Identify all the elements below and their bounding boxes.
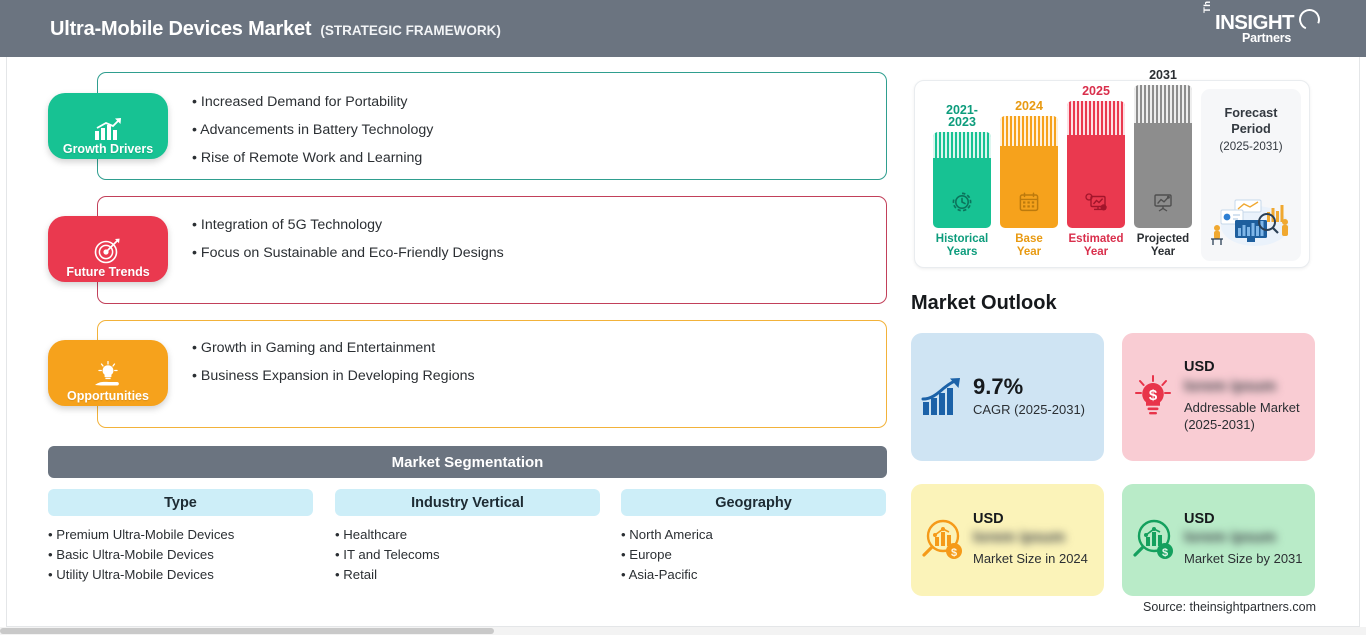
badge-label: Growth Drivers	[63, 143, 153, 156]
forecast-timeline-panel: 2021-2023 HistoricalYears 2	[914, 80, 1310, 268]
card-caption: Market Size by 2031	[1184, 551, 1307, 568]
badge-growth-drivers[interactable]: Growth Drivers	[48, 93, 168, 159]
badge-opportunities[interactable]: Opportunities	[48, 340, 168, 406]
magnifier-bar-chart-dollar-icon: $	[1122, 518, 1184, 562]
list-item: Utility Ultra-Mobile Devices	[48, 565, 313, 585]
logo-arc-icon	[1296, 6, 1323, 33]
currency-label: USD	[973, 512, 1096, 527]
analytics-gear-icon	[1084, 191, 1108, 218]
timeline-year: 2024	[1000, 100, 1058, 113]
bullet-list-future-trends: Integration of 5G Technology Focus on Su…	[192, 218, 504, 274]
cagr-value: 9.7%	[973, 376, 1096, 398]
bar-chart-growth-icon	[911, 377, 973, 417]
outlook-card-body: 9.7% CAGR (2025-2031)	[973, 376, 1104, 419]
bullet-item: Rise of Remote Work and Learning	[192, 151, 433, 165]
list-item: Basic Ultra-Mobile Devices	[48, 545, 313, 565]
timeline-bar	[1000, 116, 1058, 228]
segmentation-column-industry-vertical: Industry Vertical Healthcare IT and Tele…	[335, 489, 600, 586]
currency-label: USD	[1184, 512, 1307, 527]
market-segmentation-title: Market Segmentation	[48, 446, 887, 478]
list-item: Healthcare	[335, 525, 600, 545]
forecast-period-label: ForecastPeriod	[1201, 105, 1301, 138]
timeline-year: 2021-2023	[933, 104, 991, 129]
segmentation-column-geography: Geography North America Europe Asia-Paci…	[621, 489, 886, 586]
target-dart-icon	[94, 234, 122, 264]
header-title-group: Ultra-Mobile Devices Market (STRATEGIC F…	[50, 18, 501, 41]
currency-label: USD	[1184, 360, 1307, 375]
outlook-card-market-size-2024: $ USD lorem ipsum Market Size in 2024	[911, 484, 1104, 596]
blurred-value: lorem ipsum	[973, 529, 1096, 547]
page-header: Ultra-Mobile Devices Market (STRATEGIC F…	[0, 0, 1366, 57]
bullet-list-growth-drivers: Increased Demand for Portability Advance…	[192, 95, 433, 180]
magnifier-bar-chart-dollar-icon: $	[911, 518, 973, 562]
segmentation-column-header: Geography	[621, 489, 886, 516]
timeline-item-historical: 2021-2023 HistoricalYears	[933, 104, 991, 259]
timeline-year: 2031	[1134, 69, 1192, 82]
forecast-period-box: ForecastPeriod (2025-2031)	[1201, 89, 1301, 261]
outlook-card-addressable-market: $ USD lorem ipsum Addressable Market (20…	[1122, 333, 1315, 461]
logo-the-text: The	[1202, 0, 1213, 13]
timeline-bars: 2021-2023 HistoricalYears 2	[933, 81, 1201, 269]
page-subtitle: (STRATEGIC FRAMEWORK)	[320, 23, 500, 38]
timeline-item-estimated: 2025 Estimated	[1067, 85, 1125, 259]
insight-partners-logo: The INSIGHT Partners	[1202, 9, 1318, 49]
blurred-value: lorem ipsum	[1184, 378, 1307, 396]
timeline-bar	[1134, 85, 1192, 228]
badge-future-trends[interactable]: Future Trends	[48, 216, 168, 282]
list-item: Europe	[621, 545, 886, 565]
lightbulb-dollar-icon: $	[1122, 374, 1184, 420]
market-outlook-title: Market Outlook	[911, 292, 1057, 315]
bullet-item: Integration of 5G Technology	[192, 218, 504, 232]
timeline-item-projected: 2031 ProjectedYear	[1134, 69, 1192, 259]
page-title: Ultra-Mobile Devices Market	[50, 18, 311, 41]
list-item: Asia-Pacific	[621, 565, 886, 585]
svg-text:$: $	[951, 547, 957, 559]
timeline-bar	[933, 132, 991, 228]
timeline-item-base: 2024	[1000, 100, 1058, 259]
outlook-card-cagr: 9.7% CAGR (2025-2031)	[911, 333, 1104, 461]
timeline-label: BaseYear	[1000, 233, 1058, 259]
infographic-page: Ultra-Mobile Devices Market (STRATEGIC F…	[0, 0, 1366, 635]
bullet-item: Increased Demand for Portability	[192, 95, 433, 109]
list-item: Retail	[335, 565, 600, 585]
segmentation-column-header: Type	[48, 489, 313, 516]
list-item: IT and Telecoms	[335, 545, 600, 565]
outlook-card-body: USD lorem ipsum Market Size by 2031	[1184, 512, 1315, 568]
badge-label: Future Trends	[66, 266, 149, 279]
svg-text:$: $	[1149, 387, 1158, 404]
segmentation-item-list: North America Europe Asia-Pacific	[621, 525, 886, 586]
segmentation-column-header: Industry Vertical	[335, 489, 600, 516]
cagr-caption: CAGR (2025-2031)	[973, 402, 1096, 419]
timeline-bar	[1067, 101, 1125, 228]
bullet-item: Growth in Gaming and Entertainment	[192, 341, 475, 355]
lightbulb-in-hand-icon	[93, 358, 123, 388]
bar-chart-arrow-up-icon	[93, 111, 123, 141]
outlook-card-market-size-2031: $ USD lorem ipsum Market Size by 2031	[1122, 484, 1315, 596]
list-item: North America	[621, 525, 886, 545]
bullet-item: Focus on Sustainable and Eco-Friendly De…	[192, 246, 504, 260]
badge-label: Opportunities	[67, 390, 149, 403]
scrollbar-thumb[interactable]	[0, 628, 494, 634]
card-caption: Addressable Market (2025-2031)	[1184, 400, 1307, 434]
segmentation-item-list: Healthcare IT and Telecoms Retail	[335, 525, 600, 586]
timeline-label: EstimatedYear	[1067, 233, 1125, 259]
outlook-card-body: USD lorem ipsum Market Size in 2024	[973, 512, 1104, 568]
list-item: Premium Ultra-Mobile Devices	[48, 525, 313, 545]
timeline-year: 2025	[1067, 85, 1125, 98]
calendar-icon	[1018, 191, 1040, 218]
data-analysis-illustration-icon	[1207, 190, 1295, 253]
clock-history-icon	[951, 191, 973, 218]
segmentation-item-list: Premium Ultra-Mobile Devices Basic Ultra…	[48, 525, 313, 586]
bullet-item: Advancements in Battery Technology	[192, 123, 433, 137]
timeline-label: ProjectedYear	[1134, 233, 1192, 259]
blurred-value: lorem ipsum	[1184, 529, 1307, 547]
segmentation-column-type: Type Premium Ultra-Mobile Devices Basic …	[48, 489, 313, 586]
horizontal-scrollbar[interactable]	[0, 627, 1366, 635]
svg-text:$: $	[1162, 547, 1168, 559]
card-caption: Market Size in 2024	[973, 551, 1096, 568]
logo-partners-text: Partners	[1242, 31, 1291, 45]
bullet-item: Business Expansion in Developing Regions	[192, 369, 475, 383]
bullet-list-opportunities: Growth in Gaming and Entertainment Busin…	[192, 341, 475, 397]
presentation-chart-icon	[1151, 191, 1175, 218]
forecast-period-range: (2025-2031)	[1201, 140, 1301, 153]
source-attribution: Source: theinsightpartners.com	[1143, 600, 1316, 614]
timeline-label: HistoricalYears	[933, 233, 991, 259]
outlook-card-body: USD lorem ipsum Addressable Market (2025…	[1184, 360, 1315, 433]
